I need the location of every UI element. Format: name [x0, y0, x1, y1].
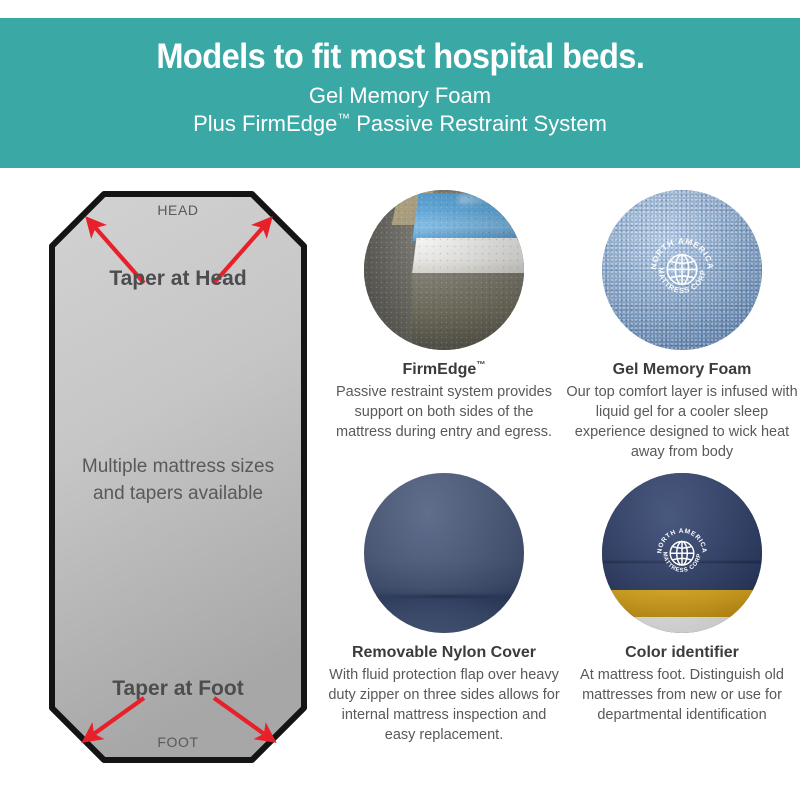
color-identifier-description: At mattress foot. Distinguish old mattre… — [563, 665, 800, 725]
firmedge-description: Passive restraint system provides suppor… — [325, 382, 563, 442]
firmedge-photo — [364, 190, 524, 350]
header-subtitle-line1: Gel Memory Foam — [309, 82, 491, 110]
mattress-sizes-note: Multiple mattress sizes and tapers avail… — [46, 453, 310, 507]
mattress-sizes-note-line1: Multiple mattress sizes — [46, 453, 310, 480]
infographic-page: Models to fit most hospital beds. Gel Me… — [0, 0, 800, 800]
removable-nylon-cover-description: With fluid protection flap over heavy du… — [325, 665, 563, 745]
gel-memory-foam-photo: NORTH AMERICA MATTRESS CORP. — [602, 190, 762, 350]
removable-nylon-cover-title: Removable Nylon Cover — [325, 643, 563, 663]
gel-memory-foam-description: Our top comfort layer is infused with li… — [563, 382, 800, 462]
firmedge-trademark-symbol: ™ — [476, 360, 485, 370]
nylon-cover-base — [364, 473, 524, 633]
page-title: Models to fit most hospital beds. — [156, 38, 644, 76]
color-identifier-photo: NORTH AMERICA MATTRESS CORP. — [602, 473, 762, 633]
firmedge-photo-base — [364, 190, 524, 350]
nylon-cover-photo — [364, 473, 524, 633]
firmedge-title: FirmEdge™ — [325, 360, 563, 380]
header-subtitle-line2: Plus FirmEdge™ Passive Restraint System — [193, 110, 607, 138]
feature-removable-nylon-cover: Removable Nylon Cover With fluid protect… — [325, 473, 563, 745]
feature-color-identifier: NORTH AMERICA MATTRESS CORP. Color ident… — [563, 473, 800, 725]
gel-memory-foam-title: Gel Memory Foam — [563, 360, 800, 380]
taper-at-foot-label: Taper at Foot — [46, 677, 310, 701]
header-banner: Models to fit most hospital beds. Gel Me… — [0, 18, 800, 168]
color-identifier-title: Color identifier — [563, 643, 800, 663]
feature-gel-memory-foam: NORTH AMERICA MATTRESS CORP. Gel Memory … — [563, 190, 800, 462]
feature-firmedge: FirmEdge™ Passive restraint system provi… — [325, 190, 563, 442]
feature-grid: FirmEdge™ Passive restraint system provi… — [325, 190, 800, 770]
mattress-sizes-note-line2: and tapers available — [46, 480, 310, 507]
mattress-head-label: HEAD — [46, 202, 310, 218]
mattress-foot-label: FOOT — [46, 734, 310, 750]
header-subtitle-line2-text-after-tm: Passive Restraint System — [350, 111, 607, 136]
firmedge-vignette — [364, 190, 524, 350]
taper-at-head-label: Taper at Head — [46, 267, 310, 291]
globe-icon: NORTH AMERICA MATTRESS CORP. — [651, 521, 713, 583]
firmedge-title-text: FirmEdge — [402, 361, 476, 378]
globe-icon: NORTH AMERICA MATTRESS CORP. — [643, 229, 721, 307]
trademark-symbol: ™ — [337, 111, 350, 126]
mattress-diagram: HEAD Taper at Head Multiple mattress siz… — [46, 188, 310, 766]
nylon-cover-sheen — [364, 473, 524, 633]
header-subtitle-line2-text-before-tm: Plus FirmEdge — [193, 111, 337, 136]
